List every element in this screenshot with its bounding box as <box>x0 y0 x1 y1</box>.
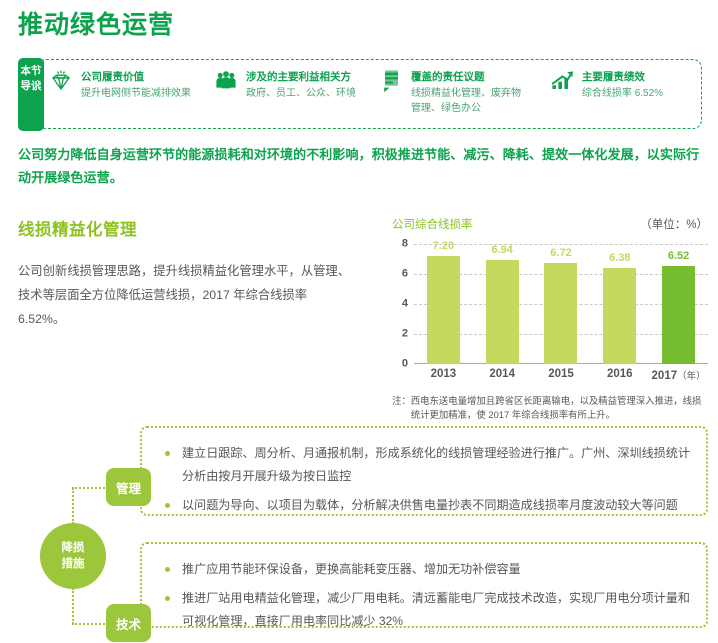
people-group-icon <box>213 66 239 95</box>
line-loss-bar-chart: 公司综合线损率 （单位：%） 8 6 4 2 0 7.20 <box>392 216 708 412</box>
bar-slot: 6.38 <box>591 244 648 364</box>
chart-grid-area: 7.20 6.94 6.72 6.38 <box>414 244 708 364</box>
bar-slot: 6.72 <box>532 244 589 364</box>
chart-x-axis: 2013 2014 2015 2016 2017（年） <box>414 368 708 382</box>
x-tick-2013: 2013 <box>415 368 472 382</box>
list-item: 建立日跟踪、周分析、月通报机制，形成系统化的线损管理经验进行推广。广州、深圳线损… <box>182 442 690 488</box>
list-item-text: 以问题为导向、以项目为载体，分析解决供售电量抄表不同期造成线损率月度波动较大等问… <box>182 498 678 512</box>
x-tick-2014: 2014 <box>474 368 531 382</box>
x-tick-2017: 2017（年） <box>650 368 707 382</box>
panel-content: 建立日跟踪、周分析、月通报机制，形成系统化的线损管理经验进行推广。广州、深圳线损… <box>142 428 706 527</box>
hub-label-line2: 措施 <box>62 556 85 572</box>
y-tick: 4 <box>402 299 408 310</box>
list-item-text: 建立日跟踪、周分析、月通报机制，形成系统化的线损管理经验进行推广。广州、深圳线损… <box>182 446 690 483</box>
growth-chart-icon <box>549 66 575 95</box>
bar-2017[interactable]: 6.52 <box>662 266 695 364</box>
measures-panel-management: 建立日跟踪、周分析、月通报机制，形成系统化的线损管理经验进行推广。广州、深圳线损… <box>140 426 708 516</box>
y-tick: 2 <box>402 329 408 340</box>
guide-item-desc: 线损精益化管理、废弃物管理、绿色办公 <box>411 86 529 116</box>
section-guide-box: 本节导读 公司履责价值 提升电网侧节能减排效果 <box>18 58 702 131</box>
list-item: 以问题为导向、以项目为载体，分析解决供售电量抄表不同期造成线损率月度波动较大等问… <box>182 494 690 517</box>
chart-title: 公司综合线损率 <box>392 216 473 232</box>
panel-content: 推广应用节能环保设备，更换高能耗变压器、增加无功补偿容量 推进厂站用电精益化管理… <box>142 544 706 643</box>
bar-2015[interactable]: 6.72 <box>544 263 577 364</box>
list-item-text: 推广应用节能环保设备，更换高能耗变压器、增加无功补偿容量 <box>182 562 521 576</box>
hub-label-line1: 降损 <box>62 540 85 556</box>
section-paragraph: 公司创新线损管理思路，提升线损精益化管理水平，从管理、技术等层面全方位降低运营线… <box>18 259 356 331</box>
guide-item-value: 公司履责价值 提升电网侧节能减排效果 <box>48 66 213 101</box>
guide-item-title: 涉及的主要利益相关方 <box>246 71 351 83</box>
bar-value-label: 6.38 <box>609 252 630 264</box>
connector-line-bottom <box>72 623 108 625</box>
guide-item-text: 公司履责价值 提升电网侧节能减排效果 <box>81 66 191 101</box>
loss-reduction-measures-diagram: 降损 措施 建立日跟踪、周分析、月通报机制，形成系统化的线损管理经验进行推广。广… <box>18 418 708 628</box>
bar-value-label: 6.94 <box>491 244 512 256</box>
connector-line-top <box>72 487 108 489</box>
bar-2016[interactable]: 6.38 <box>603 268 636 364</box>
connector-line-down <box>72 588 74 624</box>
node-management: 管理 <box>106 468 151 506</box>
section-heading: 线损精益化管理 <box>18 216 137 240</box>
list-item: 推广应用节能环保设备，更换高能耗变压器、增加无功补偿容量 <box>182 558 690 581</box>
y-tick: 8 <box>402 239 408 250</box>
chart-unit-label: （单位：%） <box>640 216 708 232</box>
x-axis-unit: （年） <box>677 371 706 382</box>
guide-items: 公司履责价值 提升电网侧节能减排效果 涉及的主要利益相关方 政府、员工、公众、环… <box>48 58 698 128</box>
guide-item-stakeholders: 涉及的主要利益相关方 政府、员工、公众、环境 <box>213 66 378 101</box>
bar-value-label: 6.52 <box>668 250 689 262</box>
bullet-dot-icon <box>165 451 170 456</box>
diamond-icon <box>48 66 74 95</box>
chart-header: 公司综合线损率 （单位：%） <box>392 216 708 236</box>
bullet-dot-icon <box>165 503 170 508</box>
y-tick: 6 <box>402 269 408 280</box>
x-tick-2016: 2016 <box>591 368 648 382</box>
lead-paragraph: 公司努力降低自身运营环节的能源损耗和对环境的不利影响，积极推进节能、减污、降耗、… <box>18 143 708 189</box>
guide-item-text: 覆盖的责任议题 线损精益化管理、废弃物管理、绿色办公 <box>411 66 529 116</box>
guide-item-text: 涉及的主要利益相关方 政府、员工、公众、环境 <box>246 66 356 101</box>
bar-slot: 6.52 <box>650 244 707 364</box>
guide-item-title: 覆盖的责任议题 <box>411 71 485 83</box>
document-note-icon <box>378 66 404 95</box>
x-tick-2015: 2015 <box>532 368 589 382</box>
guide-item-text: 主要履责绩效 综合线损率 6.52% <box>582 66 663 101</box>
measures-panel-technology: 推广应用节能环保设备，更换高能耗变压器、增加无功补偿容量 推进厂站用电精益化管理… <box>140 542 708 628</box>
guide-item-desc: 综合线损率 6.52% <box>582 86 663 101</box>
page-title: 推动绿色运营 <box>18 8 174 42</box>
chart-y-axis: 8 6 4 2 0 <box>392 244 408 364</box>
bar-2014[interactable]: 6.94 <box>486 260 519 364</box>
bar-slot: 7.20 <box>415 244 472 364</box>
bar-slot: 6.94 <box>474 244 531 364</box>
chart-bars: 7.20 6.94 6.72 6.38 <box>414 244 708 364</box>
guide-item-desc: 提升电网侧节能减排效果 <box>81 86 191 101</box>
bar-2013[interactable]: 7.20 <box>427 256 460 364</box>
guide-item-desc: 政府、员工、公众、环境 <box>246 86 356 101</box>
x-tick-label: 2017 <box>652 370 678 382</box>
measures-hub: 降损 措施 <box>40 523 106 589</box>
bar-value-label: 6.72 <box>550 247 571 259</box>
list-item: 推进厂站用电精益化管理，减少厂用电耗。清远蓄能电厂完成技术改造，实现厂用电分项计… <box>182 587 690 633</box>
guide-item-title: 公司履责价值 <box>81 71 144 83</box>
list-item-text: 推进厂站用电精益化管理，减少厂用电耗。清远蓄能电厂完成技术改造，实现厂用电分项计… <box>182 591 690 628</box>
guide-item-topics: 覆盖的责任议题 线损精益化管理、废弃物管理、绿色办公 <box>378 66 549 116</box>
connector-line-up <box>72 488 74 524</box>
y-tick: 0 <box>402 359 408 370</box>
guide-item-title: 主要履责绩效 <box>582 71 645 83</box>
chart-plot-area: 8 6 4 2 0 7.20 6.94 <box>392 244 708 364</box>
node-technology: 技术 <box>106 604 151 642</box>
bullet-dot-icon <box>165 567 170 572</box>
bullet-dot-icon <box>165 596 170 601</box>
guide-item-performance: 主要履责绩效 综合线损率 6.52% <box>549 66 698 101</box>
bar-value-label: 7.20 <box>433 240 454 252</box>
